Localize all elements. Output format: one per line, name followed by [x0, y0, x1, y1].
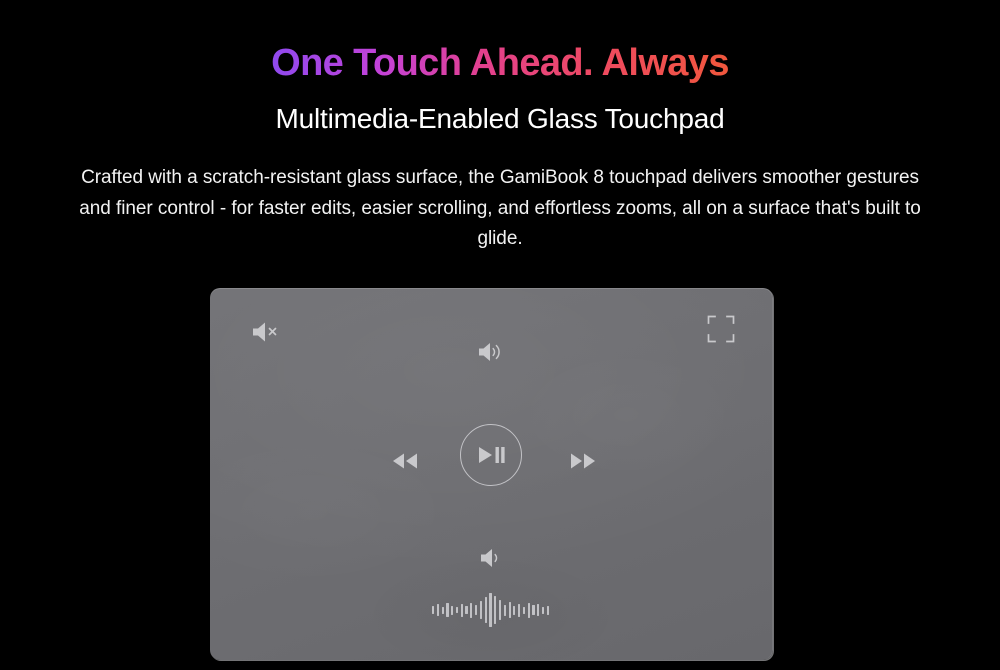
- page-subtitle: Multimedia-Enabled Glass Touchpad: [0, 101, 1000, 137]
- waveform-bar: [470, 603, 472, 618]
- waveform-bar: [532, 605, 534, 615]
- waveform-bar: [509, 602, 511, 618]
- waveform-bar: [451, 606, 453, 615]
- waveform-bar: [518, 604, 520, 617]
- volume-up-icon[interactable]: [477, 340, 505, 364]
- waveform-bar: [504, 605, 506, 616]
- play-pause-ring: [460, 424, 522, 486]
- play-pause-icon[interactable]: [460, 424, 522, 486]
- rewind-icon[interactable]: [390, 451, 420, 471]
- waveform-bar: [456, 607, 458, 613]
- waveform-bar: [528, 603, 530, 618]
- promo-page: One Touch Ahead. Always Multimedia-Enabl…: [0, 0, 1000, 670]
- audio-waveform: [432, 593, 549, 627]
- waveform-bar: [475, 605, 477, 615]
- waveform-bar: [547, 606, 549, 615]
- waveform-bar: [537, 604, 539, 616]
- mute-icon[interactable]: [250, 319, 280, 345]
- touchpad-surface[interactable]: [210, 288, 773, 660]
- waveform-bar: [513, 606, 515, 615]
- waveform-bar: [485, 597, 487, 623]
- waveform-bar: [446, 603, 448, 617]
- waveform-bar: [432, 606, 434, 614]
- volume-down-icon[interactable]: [479, 546, 503, 570]
- waveform-bar: [542, 607, 544, 614]
- waveform-bar: [489, 593, 491, 627]
- waveform-bar: [523, 607, 525, 614]
- waveform-bar: [437, 604, 439, 616]
- audio-waveform-bars: [432, 593, 549, 627]
- page-title: One Touch Ahead. Always: [0, 40, 1000, 86]
- waveform-bar: [461, 604, 463, 617]
- waveform-bar: [465, 606, 467, 614]
- page-description: Crafted with a scratch-resistant glass s…: [78, 163, 922, 255]
- touchpad-illustration: [210, 288, 773, 660]
- waveform-bar: [442, 607, 444, 614]
- fullscreen-icon[interactable]: [707, 315, 735, 343]
- waveform-bar: [499, 600, 501, 620]
- fast-forward-icon[interactable]: [568, 451, 598, 471]
- waveform-bar: [494, 596, 496, 624]
- waveform-bar: [480, 601, 482, 619]
